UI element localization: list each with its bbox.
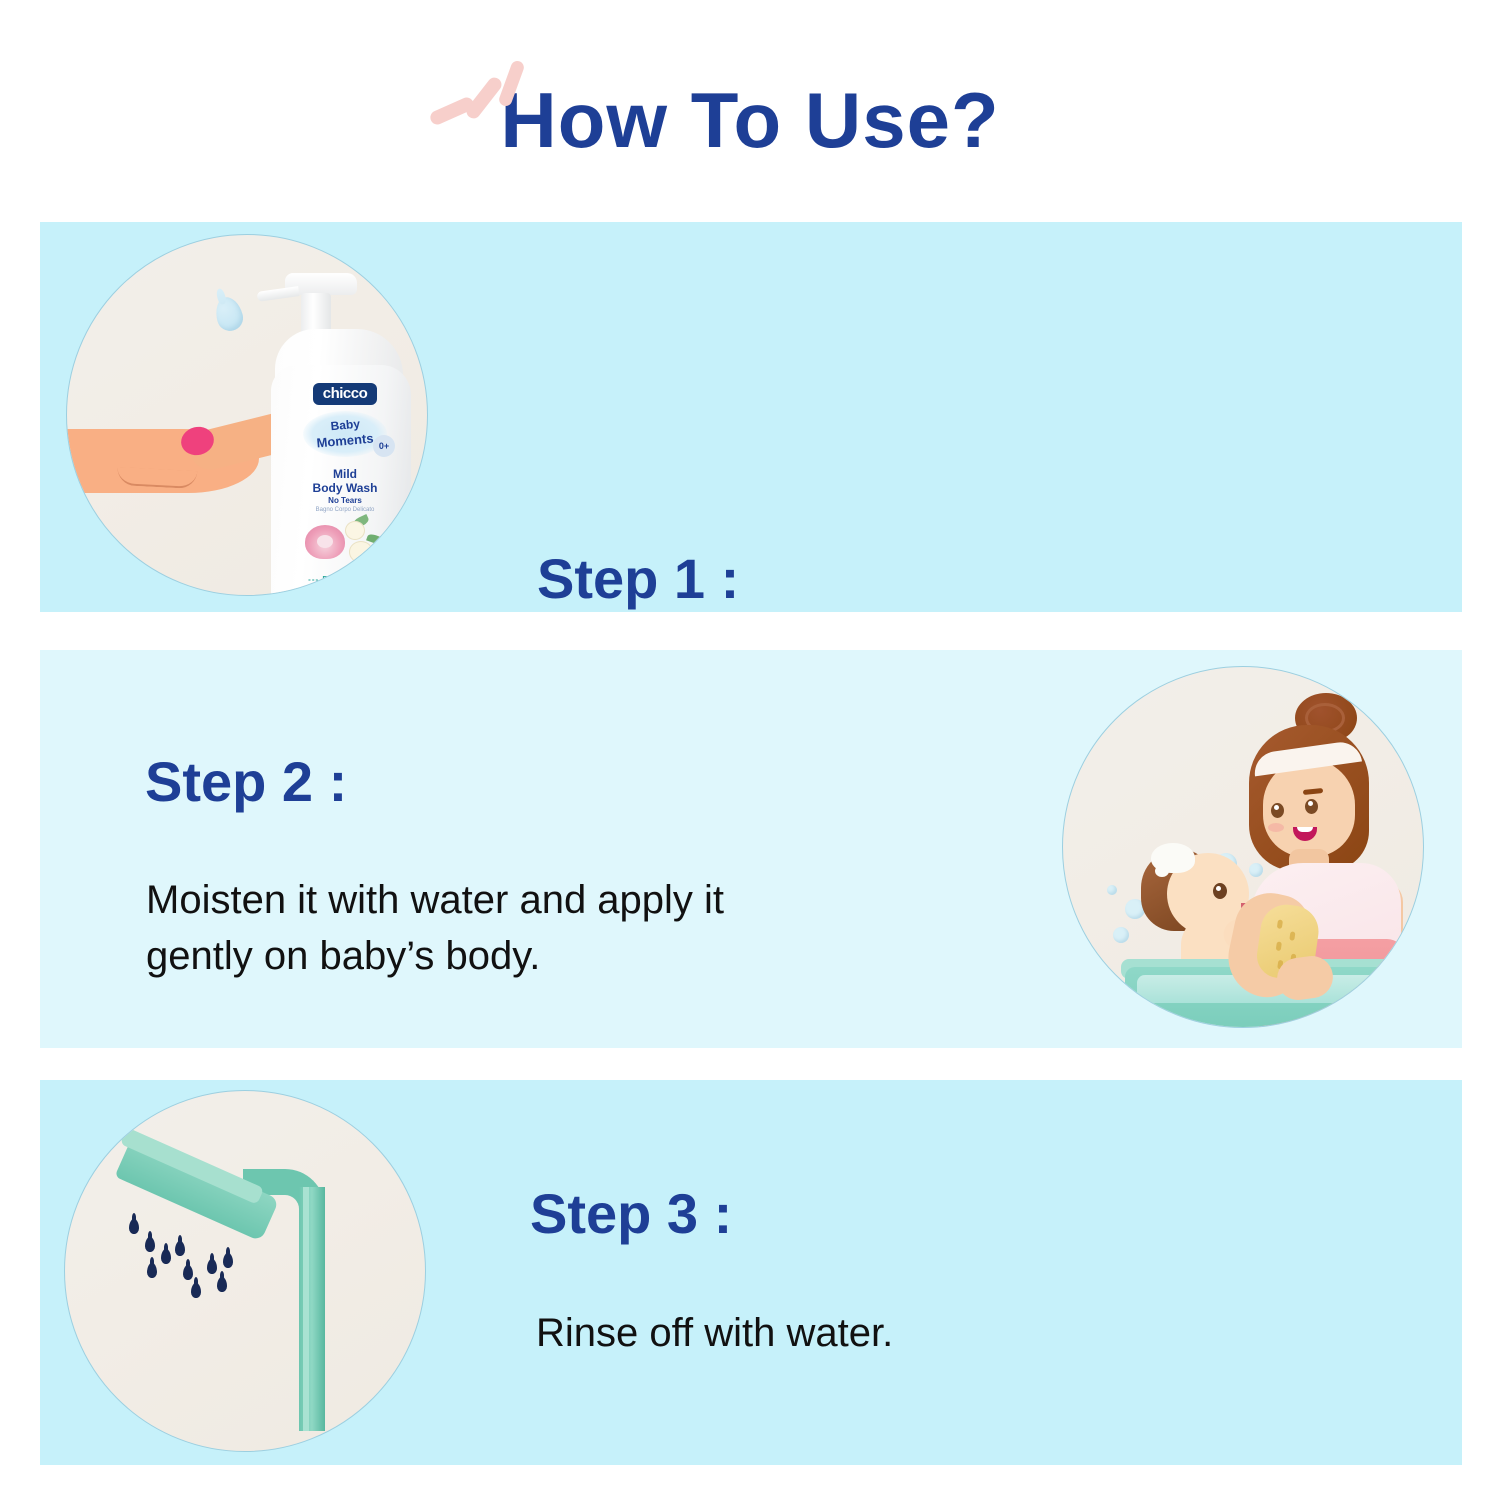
step-1-heading: Step 1 :	[537, 551, 739, 607]
water-droplet-icon	[212, 294, 246, 334]
step-2-illustration	[1062, 666, 1424, 1028]
variant-line-1: LOTUS AND	[292, 587, 397, 596]
mother-bathing-baby-illustration	[1063, 667, 1423, 1027]
product-bottle: chicco Baby Moments 0+ Mild Body Wash No…	[253, 273, 421, 596]
step-1-illustration: chicco Baby Moments 0+ Mild Body Wash No…	[66, 234, 428, 596]
page-title: How To Use?	[500, 60, 999, 180]
page-header: How To Use?	[0, 60, 1500, 190]
product-name-line-1: Mild	[293, 467, 397, 481]
step-2-body: Moisten it with water and apply it gentl…	[146, 872, 1026, 984]
flower-graphic-icon	[293, 517, 397, 571]
age-badge: 0+	[373, 435, 395, 457]
baby-moments-badge: Baby Moments 0+	[303, 411, 387, 457]
product-benefit: --- REFRESH ---	[293, 575, 397, 584]
step-card-2: Step 2 : Moisten it with water and apply…	[40, 650, 1462, 1048]
variant-band: LOTUS AND MEADOWFOAM	[292, 585, 397, 596]
step-card-3: Step 3 : Rinse off with water.	[40, 1080, 1462, 1465]
step-2-heading: Step 2 :	[145, 754, 347, 810]
step-card-1: chicco Baby Moments 0+ Mild Body Wash No…	[40, 222, 1462, 612]
step-3-body: Rinse off with water.	[536, 1302, 1336, 1364]
step-3-heading: Step 3 :	[530, 1186, 732, 1242]
bottle-label: chicco Baby Moments 0+ Mild Body Wash No…	[293, 383, 397, 596]
foam-icon	[1151, 843, 1195, 873]
product-claim-italian: Bagno Corpo Delicato	[293, 506, 397, 515]
product-name-line-2: Body Wash	[293, 481, 397, 495]
product-claim: No Tears	[293, 495, 397, 506]
step-3-illustration	[64, 1090, 426, 1452]
shower-head-icon	[65, 1091, 425, 1451]
chicco-logo: chicco	[313, 383, 377, 405]
